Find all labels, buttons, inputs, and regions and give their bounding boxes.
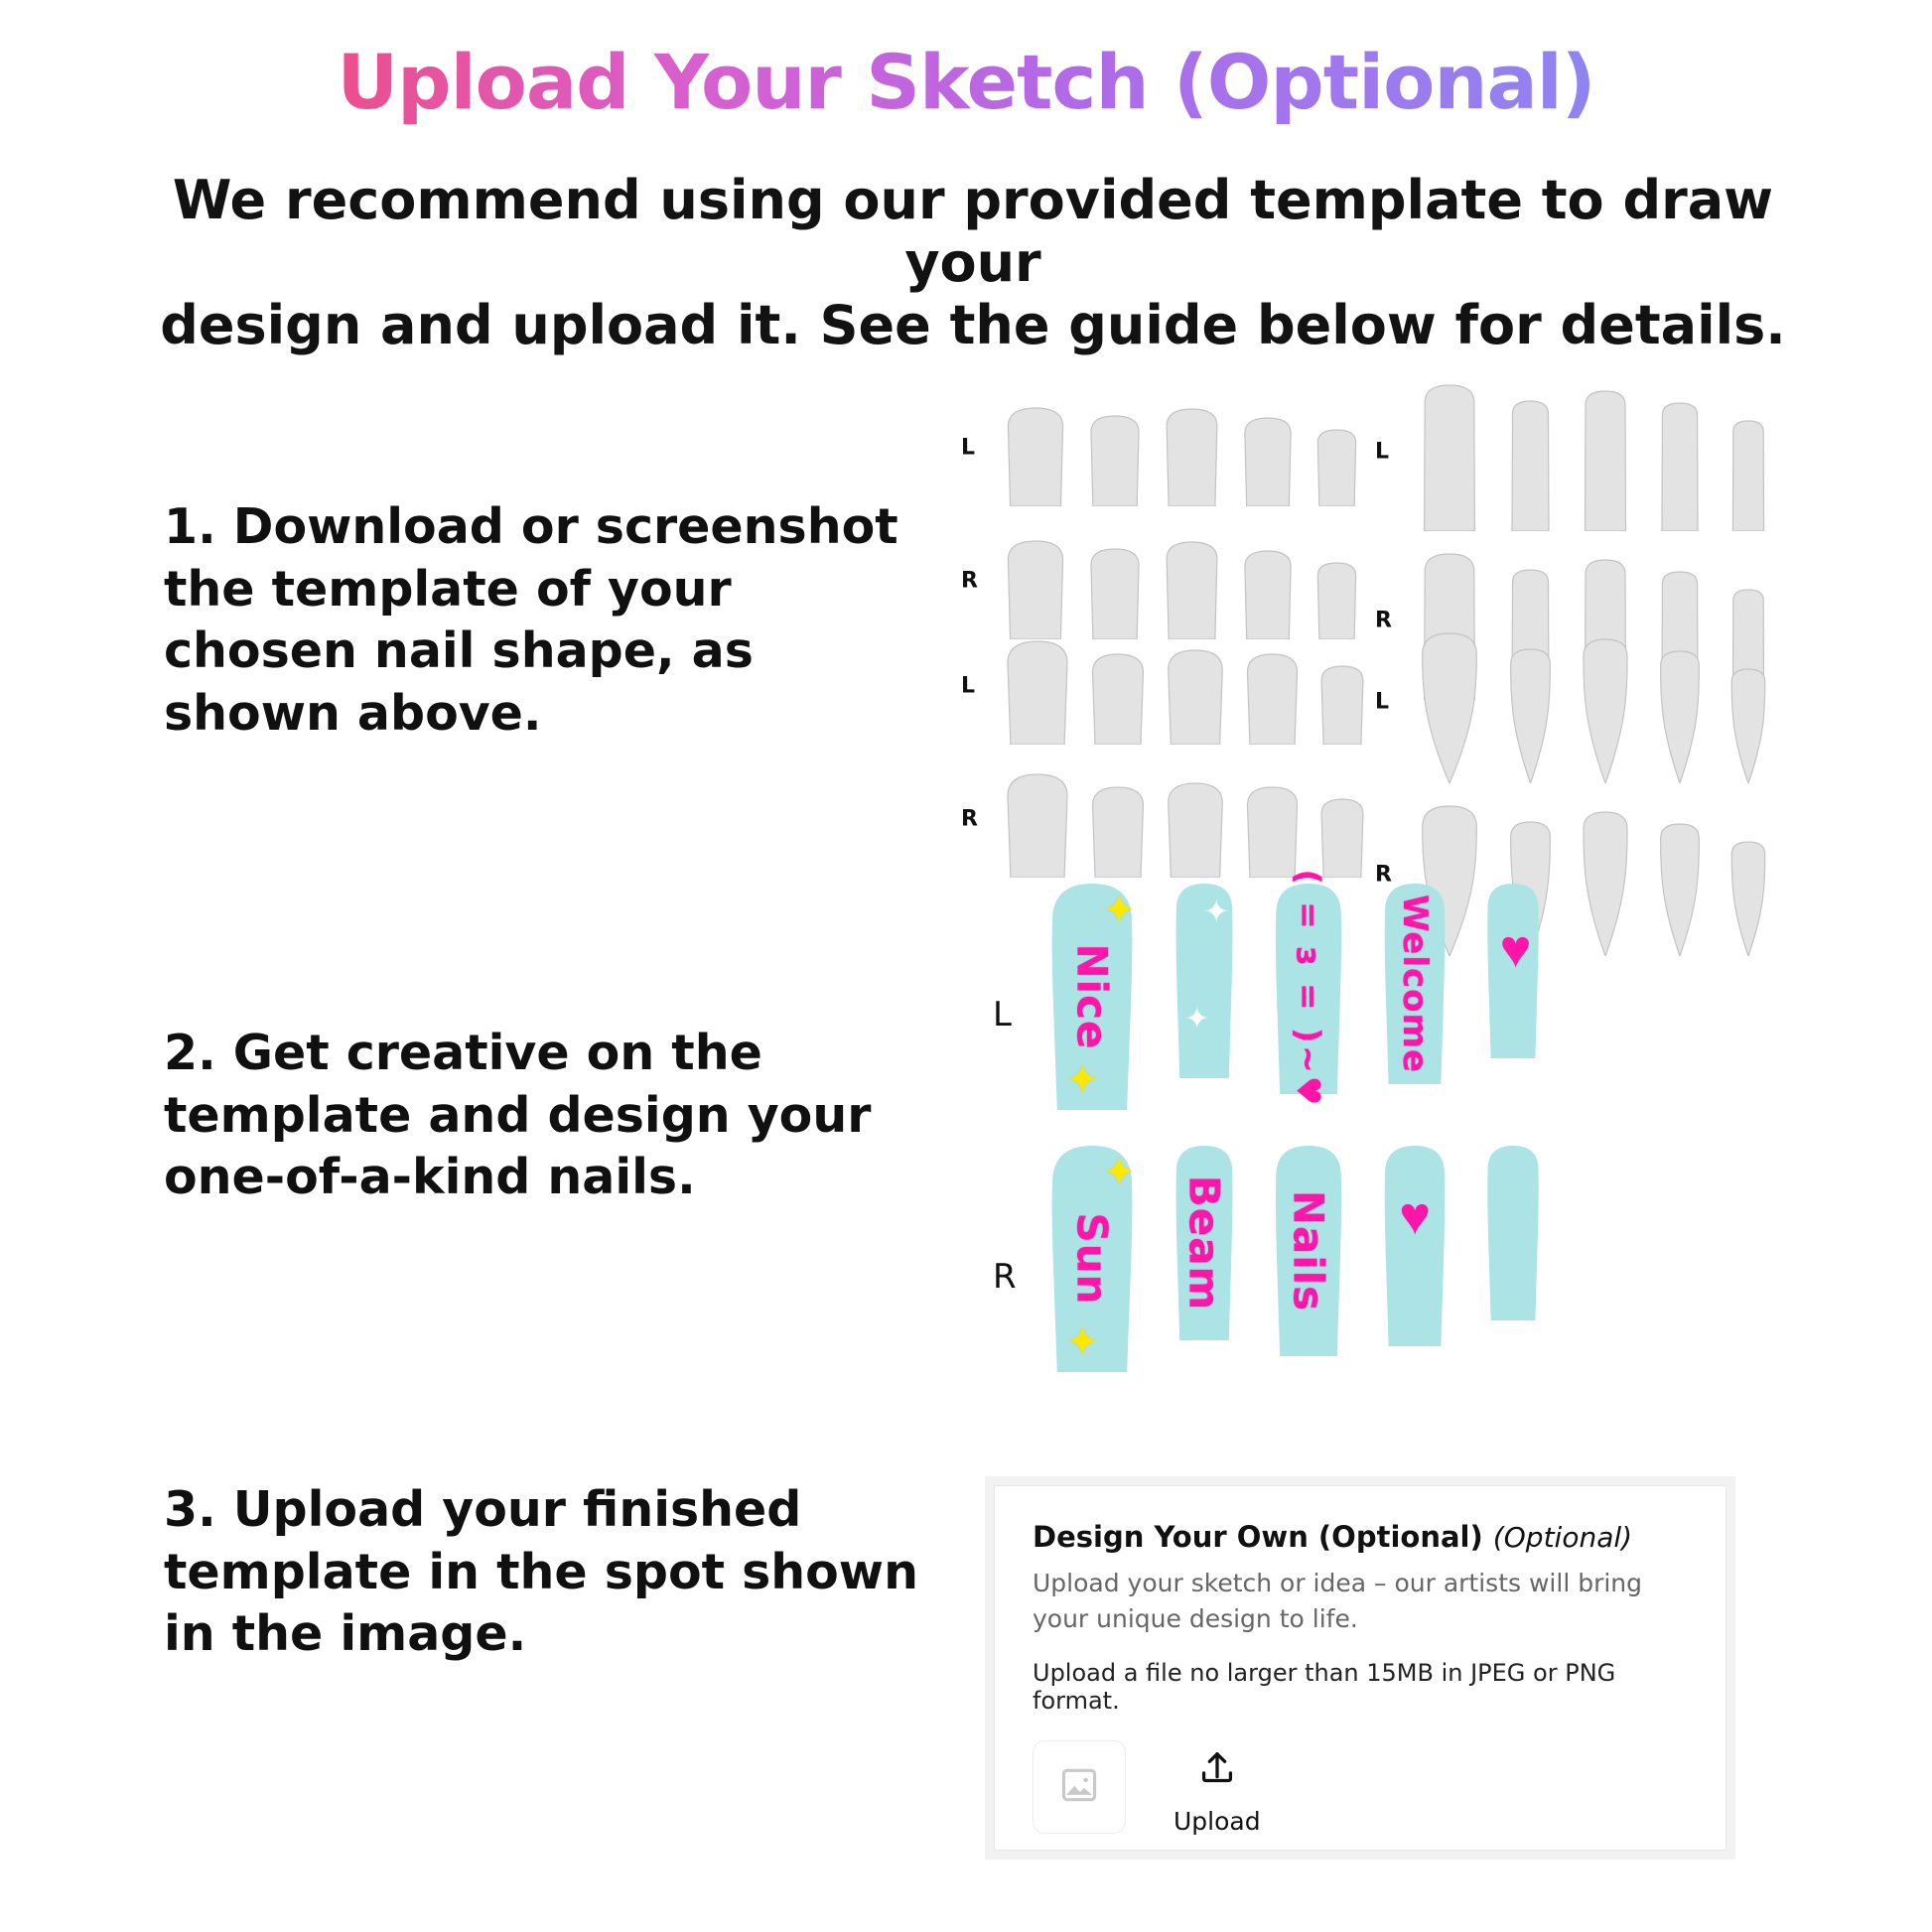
nail-row-label-l: L — [961, 674, 975, 699]
intro-line-2: design and upload it. See the guide belo… — [119, 294, 1827, 356]
card-subtitle: Upload your sketch or idea – our artists… — [1033, 1566, 1688, 1638]
nail-template-almond-4[interactable] — [1658, 650, 1702, 783]
nail-row-label-l: L — [1375, 440, 1389, 465]
intro-line-1: We recommend using our provided template… — [173, 169, 1773, 294]
nail-template-square-3[interactable] — [1164, 408, 1220, 506]
nail-template-squoval-4[interactable] — [1245, 786, 1300, 878]
designed-nail-text: Nails — [1285, 1190, 1333, 1311]
nail-row-label-r: R — [1375, 609, 1392, 633]
intro-text: We recommend using our provided template… — [119, 169, 1827, 357]
nail-row-label-l: L — [1375, 690, 1389, 715]
design-your-own-card: Design Your Own (Optional) (Optional) Up… — [985, 1476, 1735, 1860]
nail-template-almond-3[interactable] — [1581, 811, 1630, 956]
nail-template-coffin-5[interactable] — [1729, 420, 1767, 531]
designed-nail-r-5[interactable] — [1485, 1146, 1541, 1320]
nail-template-coffin-4[interactable] — [1658, 402, 1702, 531]
upload-button[interactable]: Upload — [1173, 1740, 1261, 1836]
upload-button-label: Upload — [1173, 1807, 1261, 1836]
sparkle-icon: ✦ — [1103, 1153, 1137, 1192]
nail-template-square-1[interactable] — [1005, 407, 1066, 506]
nail-template-coffin-1[interactable] — [1419, 384, 1480, 531]
designed-nail-r-1[interactable]: Sun✦✦ — [1048, 1146, 1136, 1372]
nail-template-squoval-2[interactable] — [1090, 653, 1146, 745]
nail-template-square-2[interactable] — [1088, 415, 1142, 506]
nail-row-label-r: R — [961, 807, 978, 832]
card-actions: Upload — [1033, 1740, 1688, 1836]
nail-template-square-1[interactable] — [1005, 540, 1066, 639]
designed-nail-r-3[interactable]: Nails — [1273, 1146, 1344, 1356]
nail-template-squoval-1[interactable] — [1005, 773, 1070, 878]
heart-icon: ♥ — [1399, 1189, 1431, 1243]
nail-template-square-5[interactable] — [1315, 562, 1358, 639]
nail-template-almond-2[interactable] — [1508, 648, 1553, 783]
nail-template-squoval-3[interactable] — [1166, 782, 1225, 878]
nail-template-coffin-2[interactable] — [1508, 400, 1553, 531]
nail-template-almond-1[interactable] — [1419, 632, 1480, 783]
nail-template-squoval-2[interactable] — [1090, 786, 1146, 878]
designed-nail-l-5[interactable]: ♥ — [1485, 884, 1541, 1058]
designed-row-label-r: R — [993, 1257, 1017, 1297]
sparkle-icon: ✦ — [1184, 1005, 1209, 1035]
nail-template-square-2[interactable] — [1088, 548, 1142, 639]
nail-template-almond-3[interactable] — [1581, 638, 1630, 783]
sparkle-icon: ✦ — [1066, 1060, 1100, 1100]
sparkle-icon: ✦ — [1066, 1322, 1100, 1362]
nail-row-label-l: L — [961, 436, 975, 461]
nail-template-squoval-4[interactable] — [1245, 653, 1300, 745]
card-title: Design Your Own (Optional) (Optional) — [1033, 1522, 1688, 1554]
nail-template-almond-5[interactable] — [1729, 841, 1767, 956]
nail-template-almond-5[interactable] — [1729, 668, 1767, 783]
nail-template-squoval-3[interactable] — [1166, 649, 1225, 745]
sparkle-icon: ✦ — [1203, 896, 1230, 927]
page-title: Upload Your Sketch (Optional) — [0, 38, 1932, 126]
image-placeholder-icon — [1057, 1763, 1101, 1812]
nail-template-squoval-5[interactable] — [1319, 665, 1365, 745]
step-3-text: 3. Upload your finished template in the … — [164, 1479, 918, 1666]
nail-template-square-4[interactable] — [1242, 417, 1294, 506]
step-1-text: 1. Download or screenshot the template o… — [164, 496, 918, 746]
card-title-optional-suffix: (Optional) — [1493, 1521, 1632, 1554]
card-file-note: Upload a file no larger than 15MB in JPE… — [1033, 1659, 1688, 1715]
card-title-main: Design Your Own (Optional) — [1033, 1520, 1483, 1554]
heart-icon: ♥ — [1500, 922, 1532, 976]
nail-template-square-4[interactable] — [1242, 550, 1294, 639]
designed-nail-l-4[interactable]: Welcome — [1382, 884, 1448, 1084]
designed-nail-r-2[interactable]: Beam — [1173, 1146, 1235, 1340]
designed-nail-text: ( = з = )~♥ — [1290, 870, 1328, 1109]
designed-row-label-l: L — [993, 995, 1012, 1035]
card-inner: Design Your Own (Optional) (Optional) Up… — [994, 1485, 1726, 1851]
sketch-upload-guide-page: Upload Your Sketch (Optional) We recomme… — [0, 0, 1932, 1932]
designed-nail-l-3[interactable]: ( = з = )~♥ — [1273, 884, 1344, 1094]
sparkle-icon: ✦ — [1103, 891, 1137, 930]
nail-template-square-3[interactable] — [1164, 541, 1220, 639]
step-2-text: 2. Get creative on the template and desi… — [164, 1023, 918, 1209]
nail-template-squoval-5[interactable] — [1319, 798, 1365, 878]
designed-nail-l-1[interactable]: Nice✦✦ — [1048, 884, 1136, 1110]
nail-row-label-r: R — [961, 569, 978, 594]
designed-nail-r-4[interactable]: ♥ — [1382, 1146, 1448, 1346]
upload-icon — [1194, 1746, 1240, 1797]
designed-nail-text: Sun — [1068, 1212, 1117, 1305]
designed-nail-l-2[interactable]: ✦✦ — [1173, 884, 1235, 1078]
nail-template-almond-4[interactable] — [1658, 823, 1702, 956]
designed-nail-text: Welcome — [1395, 895, 1435, 1073]
nail-template-squoval-1[interactable] — [1005, 640, 1070, 745]
designed-nail-text: Nice — [1068, 944, 1117, 1050]
nail-template-coffin-3[interactable] — [1581, 390, 1630, 531]
image-thumbnail-placeholder[interactable] — [1033, 1740, 1126, 1834]
nail-template-square-5[interactable] — [1315, 429, 1358, 506]
designed-nail-text: Beam — [1180, 1175, 1229, 1311]
